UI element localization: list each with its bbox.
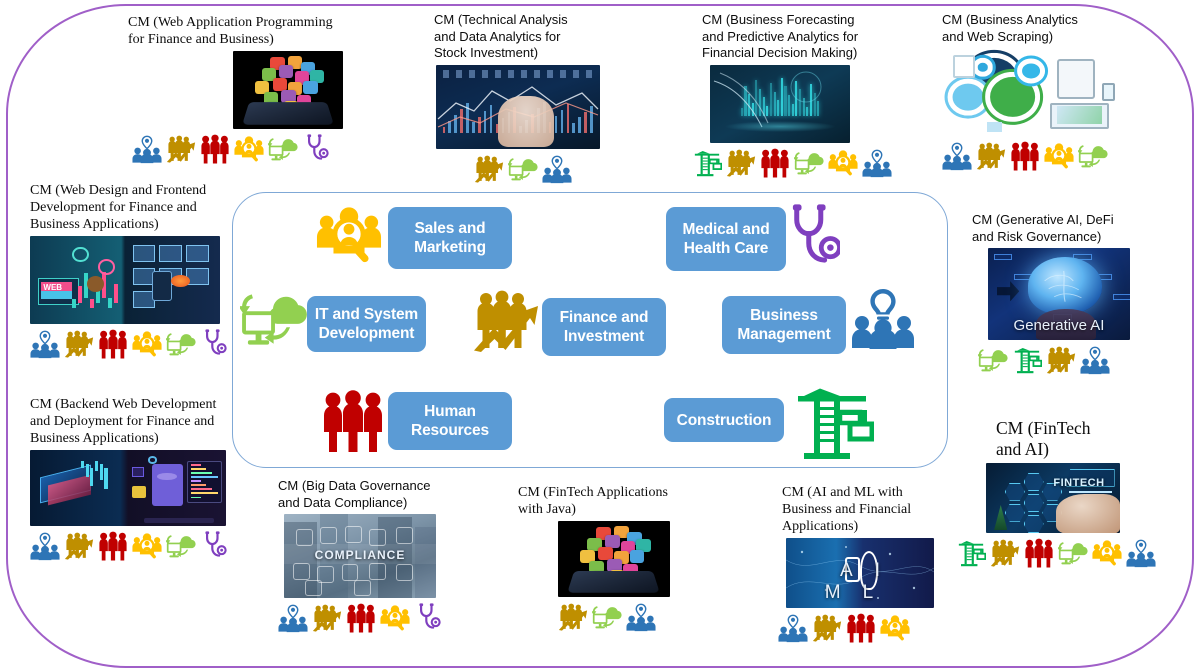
course-icon-row xyxy=(778,613,952,643)
course-icon-row xyxy=(692,148,892,178)
course-thumbnail: WEB xyxy=(30,236,220,324)
center-box-finance-and-investment[interactable]: Finance and Investment xyxy=(542,298,666,356)
center-box-construction[interactable]: Construction xyxy=(664,398,784,442)
people-growth-arrow-icon xyxy=(990,538,1020,568)
three-people-icon xyxy=(98,531,128,561)
three-people-icon xyxy=(346,603,376,633)
people-location-icon xyxy=(132,134,162,164)
three-people-icon xyxy=(200,134,230,164)
course-title: CM (Technical Analysis and Data Analytic… xyxy=(434,12,612,62)
course-icon-row xyxy=(30,531,230,561)
course-icon-row xyxy=(30,329,226,359)
course-thumbnail xyxy=(30,450,226,526)
course-icon-row xyxy=(956,538,1158,568)
stethoscope-icon xyxy=(200,329,230,359)
course-title: CM (FinTech Applications with Java) xyxy=(518,484,696,518)
monitor-cloud-sync-icon xyxy=(268,134,298,164)
sales-magnifier-people-icon xyxy=(828,148,858,178)
monitor-cloud-sync-icon xyxy=(592,602,622,632)
people-location-icon xyxy=(1126,538,1156,568)
people-location-icon xyxy=(278,603,308,633)
center-box-medical-and-health-care[interactable]: Medical and Health Care xyxy=(666,207,786,271)
monitor-cloud-sync-icon xyxy=(508,154,538,184)
people-growth-arrow-icon xyxy=(474,154,504,184)
course-card-backend-web-development[interactable]: CM (Backend Web Development and Deployme… xyxy=(30,396,230,561)
sales-magnifier-people-icon xyxy=(1092,538,1122,568)
people-growth-arrow-icon xyxy=(558,602,588,632)
people-location-icon xyxy=(30,531,60,561)
course-title: CM (FinTech and AI) xyxy=(996,418,1158,460)
stethoscope-icon xyxy=(302,134,332,164)
people-growth-arrow-icon xyxy=(976,141,1006,171)
course-title: CM (AI and ML with Business and Financia… xyxy=(782,484,952,535)
course-thumbnail: AI ML xyxy=(786,538,934,608)
course-title: CM (Big Data Governance and Data Complia… xyxy=(278,478,478,511)
course-title: CM (Backend Web Development and Deployme… xyxy=(30,396,230,447)
people-location-icon xyxy=(1080,345,1110,375)
course-card-big-data-governance[interactable]: CM (Big Data Governance and Data Complia… xyxy=(278,478,478,633)
sales-magnifier-people-icon xyxy=(316,204,382,266)
center-box-sales-and-marketing[interactable]: Sales and Marketing xyxy=(388,207,512,269)
three-people-icon xyxy=(846,613,876,643)
three-people-icon xyxy=(98,329,128,359)
crane-icon xyxy=(692,148,722,178)
course-card-web-application-programming[interactable]: CM (Web Application Programming for Fina… xyxy=(128,14,360,164)
course-title: CM (Web Design and Frontend Development … xyxy=(30,182,226,233)
monitor-cloud-sync-icon xyxy=(978,345,1008,375)
course-card-technical-analysis[interactable]: CM (Technical Analysis and Data Analytic… xyxy=(434,12,612,184)
course-thumbnail xyxy=(942,48,1128,136)
three-people-icon xyxy=(1024,538,1054,568)
course-thumbnail: COMPLIANCE xyxy=(284,514,436,598)
people-growth-arrow-icon xyxy=(166,134,196,164)
course-thumbnail: FINTECH xyxy=(986,463,1120,533)
course-card-generative-ai[interactable]: CM (Generative AI, DeFi and Risk Governa… xyxy=(972,212,1158,375)
people-growth-arrow-icon xyxy=(812,613,842,643)
people-location-icon xyxy=(778,613,808,643)
stethoscope-icon xyxy=(414,603,444,633)
stethoscope-icon xyxy=(790,202,840,274)
course-thumbnail xyxy=(233,51,343,129)
sales-magnifier-people-icon xyxy=(132,329,162,359)
crane-icon xyxy=(956,538,986,568)
sales-magnifier-people-icon xyxy=(880,613,910,643)
diagram-canvas: Sales and Marketing Medical and Health C… xyxy=(0,0,1200,672)
course-icon-row xyxy=(434,154,612,184)
people-growth-arrow-icon xyxy=(1046,345,1076,375)
monitor-cloud-sync-icon xyxy=(1078,141,1108,171)
monitor-cloud-sync-icon xyxy=(166,329,196,359)
sales-magnifier-people-icon xyxy=(380,603,410,633)
course-icon-row xyxy=(558,602,696,632)
thumbnail-caption: AI ML xyxy=(786,560,934,604)
monitor-cloud-sync-icon xyxy=(240,290,308,348)
people-growth-arrow-icon xyxy=(64,531,94,561)
course-thumbnail: Generative AI xyxy=(988,248,1130,340)
course-thumbnail xyxy=(710,65,850,143)
course-icon-row xyxy=(278,603,478,633)
course-thumbnail xyxy=(436,65,600,149)
people-location-icon xyxy=(626,602,656,632)
thumbnail-caption: COMPLIANCE xyxy=(284,548,436,562)
course-card-fintech-and-ai[interactable]: CM (FinTech and AI) FINTECH xyxy=(958,418,1158,568)
center-box-business-management[interactable]: Business Management xyxy=(722,296,846,354)
sales-magnifier-people-icon xyxy=(234,134,264,164)
course-title: CM (Web Application Programming for Fina… xyxy=(128,14,360,48)
people-location-icon xyxy=(542,154,572,184)
three-people-icon xyxy=(1010,141,1040,171)
crane-icon xyxy=(790,384,874,460)
course-title: CM (Generative AI, DeFi and Risk Governa… xyxy=(972,212,1158,245)
sales-magnifier-people-icon xyxy=(1044,141,1074,171)
people-lightbulb-icon xyxy=(852,288,914,350)
course-card-ai-and-ml[interactable]: CM (AI and ML with Business and Financia… xyxy=(782,484,952,643)
course-icon-row xyxy=(132,134,360,164)
people-location-icon xyxy=(862,148,892,178)
course-card-fintech-with-java[interactable]: CM (FinTech Applications with Java) xyxy=(518,484,696,632)
people-growth-arrow-icon xyxy=(726,148,756,178)
people-location-icon xyxy=(30,329,60,359)
course-card-business-forecasting[interactable]: CM (Business Forecasting and Predictive … xyxy=(702,12,892,178)
thumbnail-caption: FINTECH xyxy=(1048,477,1110,489)
people-growth-arrow-icon xyxy=(312,603,342,633)
thumbnail-caption: Generative AI xyxy=(988,317,1130,334)
course-card-business-analytics[interactable]: CM (Business Analytics and Web Scraping) xyxy=(942,12,1142,171)
people-growth-arrow-icon xyxy=(472,290,540,352)
monitor-cloud-sync-icon xyxy=(166,531,196,561)
course-title: CM (Business Analytics and Web Scraping) xyxy=(942,12,1142,45)
course-icon-row xyxy=(978,345,1158,375)
center-box-human-resources[interactable]: Human Resources xyxy=(388,392,512,450)
people-location-icon xyxy=(942,141,972,171)
three-people-icon xyxy=(320,390,386,452)
three-people-icon xyxy=(760,148,790,178)
course-thumbnail xyxy=(558,521,670,597)
stethoscope-icon xyxy=(200,531,230,561)
monitor-cloud-sync-icon xyxy=(1058,538,1088,568)
course-card-web-design-frontend[interactable]: CM (Web Design and Frontend Development … xyxy=(30,182,226,359)
course-title: CM (Business Forecasting and Predictive … xyxy=(702,12,892,62)
center-box-it-and-system-development[interactable]: IT and System Development xyxy=(307,296,426,352)
sales-magnifier-people-icon xyxy=(132,531,162,561)
monitor-cloud-sync-icon xyxy=(794,148,824,178)
people-growth-arrow-icon xyxy=(64,329,94,359)
course-icon-row xyxy=(942,141,1142,171)
crane-icon xyxy=(1012,345,1042,375)
